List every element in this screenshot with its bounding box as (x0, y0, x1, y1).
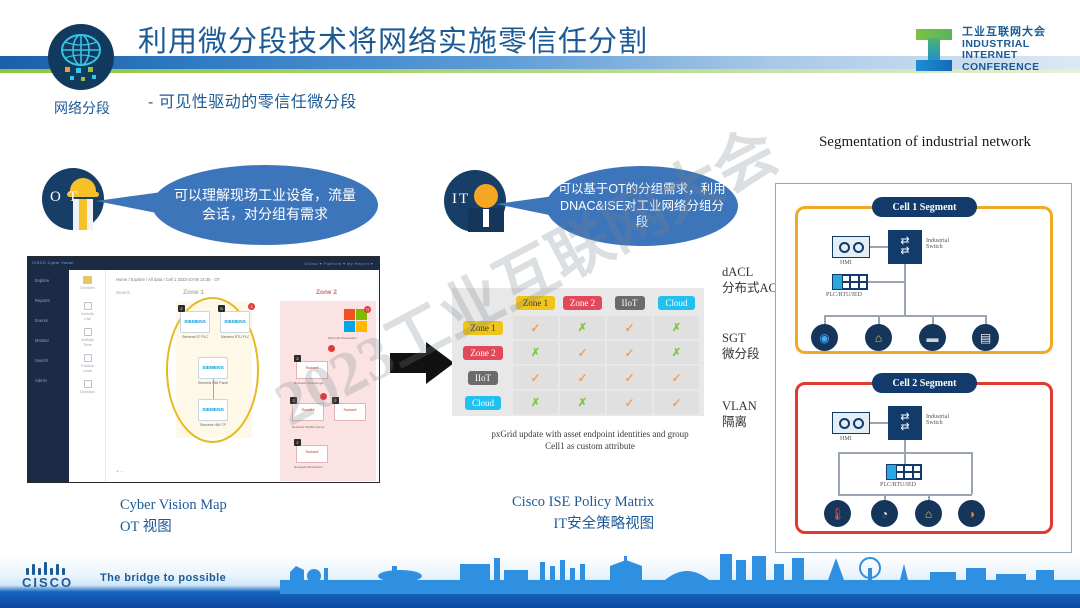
ise-policy-matrix[interactable]: Zone 1 Zone 2 IIoT Cloud Zone 1 ✓ ✗ ✓ ✗ … (452, 288, 704, 416)
cell2-switch-label: Industrial Switch (926, 414, 966, 426)
network-segmentation-badge (48, 24, 114, 90)
matrix-cell-1-0[interactable]: ✗ (513, 341, 560, 366)
label-sgt-en: SGT (722, 330, 760, 346)
cell1-segment-pill: Cell 1 Segment (872, 197, 977, 217)
zone1-node-0-badge: 2 (178, 305, 185, 312)
cv-topbar: CISCO Cyber Vision Global ▾ Platform ▾ M… (28, 257, 379, 270)
cell2-device-thermometer-icon: 🌡 (824, 500, 851, 527)
right-panel-title: Segmentation of industrial network (790, 132, 1060, 152)
industrial-city-skyline (280, 554, 1080, 594)
zone2-label: Zone 2 (316, 289, 337, 296)
zone2-node-1-badge: 2 (290, 397, 297, 404)
matrix-cell-1-2[interactable]: ✓ (607, 341, 654, 366)
zone2-node-0-caption: Rockwell ControlLogix (294, 381, 324, 385)
cyber-vision-map-screenshot[interactable]: CISCO Cyber Vision Global ▾ Platform ▾ M… (27, 256, 380, 483)
cisco-wordmark: CISCO (22, 575, 84, 590)
cell2-device-gauge-icon: ◔ (871, 500, 898, 527)
page-subtitle: - 可见性驱动的零信任微分段 (148, 88, 357, 112)
label-sgt-cn: 微分段 (722, 346, 760, 362)
label-vlan-cn: 隔离 (722, 414, 757, 430)
cell1-hmi-icon (832, 236, 870, 258)
segmentation-diagram: Cell 1 Segment HMI ⇄⇄ Industrial Switch … (775, 183, 1072, 553)
matrix-row: IIoT ✓ ✓ ✓ ✓ (455, 366, 701, 391)
slide-root: 利用微分段技术将网络实施零信任分割 - 可见性驱动的零信任微分段 网络分段 (0, 0, 1080, 608)
zone1-node-3-caption: Siemens HMI-TP (196, 423, 230, 427)
cell1-device-valve-icon: ◉ (811, 324, 838, 351)
matrix-cell-0-1[interactable]: ✗ (560, 316, 607, 341)
cv-rail-item-2[interactable]: Activity Time (78, 328, 97, 347)
cell2-device-robot-arm-icon: ⌂ (915, 500, 942, 527)
cisco-logo: CISCO (22, 562, 84, 592)
cell2-plc-label: PLC/RTU/IED (880, 482, 916, 488)
matrix-col-header-1: Zone 2 (560, 291, 607, 316)
cell2-plc-icon (886, 464, 922, 480)
cv-sidebar-item-5[interactable]: Admin (35, 378, 47, 383)
cell1-switch-icon: ⇄⇄ (888, 230, 922, 264)
zone1-node-1-caption: Siemens RTU PLC (218, 335, 252, 339)
cyber-vision-caption-cn: OT 视图 (120, 517, 227, 539)
matrix-col-header-2: IIoT (607, 291, 654, 316)
cell1-plc-icon (832, 274, 868, 290)
cell2-switch-icon: ⇄⇄ (888, 406, 922, 440)
cv-icon-rail[interactable]: Devices Activity List Activity Time Purd… (69, 270, 106, 483)
matrix-cell-3-1[interactable]: ✗ (560, 391, 607, 416)
ot-callout-bubble: 可以理解现场工业设备，流量会话，对分组有需求 (152, 165, 378, 245)
zone2-node-3-badge: 2 (294, 439, 301, 446)
conference-logo: 工业互联网大会 INDUSTRIAL INTERNET CONFERENCE (914, 22, 1064, 78)
zone2-node-0[interactable]: Rockwell (296, 361, 328, 379)
matrix-col-header-0: Zone 1 (513, 291, 560, 316)
zone1-node-2[interactable]: SIEMENS (198, 357, 228, 379)
matrix-cell-2-1[interactable]: ✓ (560, 366, 607, 391)
matrix-cell-1-1[interactable]: ✓ (560, 341, 607, 366)
ise-caption-en: Cisco ISE Policy Matrix (512, 492, 654, 514)
microsoft-host-icon[interactable] (344, 309, 367, 332)
cell1-device-meter-icon: ▤ (972, 324, 999, 351)
ise-caption-cn: IT安全策略视图 (512, 514, 654, 536)
cell1-device-tank-icon: ▬ (919, 324, 946, 351)
network-segmentation-label: 网络分段 (40, 98, 124, 118)
cell1-switch-label: Industrial Switch (926, 238, 966, 250)
ise-caption: Cisco ISE Policy Matrix IT安全策略视图 (512, 492, 654, 536)
cyber-vision-caption: Cyber Vision Map OT 视图 (120, 495, 227, 539)
gong-mark-icon (914, 27, 954, 73)
zone2-node-3-caption: Rockwell Workstation (294, 465, 323, 469)
matrix-cell-3-2[interactable]: ✓ (607, 391, 654, 416)
matrix-caption: pxGrid update with asset endpoint identi… (490, 428, 690, 452)
cell2-hmi-icon (832, 412, 870, 434)
matrix-col-header-3: Cloud (654, 291, 701, 316)
zone1-node-1[interactable]: SIEMENS (220, 311, 250, 333)
zone2-node-2[interactable]: Rockwell (334, 403, 366, 421)
matrix-row: Cloud ✗ ✗ ✓ ✓ (455, 391, 701, 416)
it-callout-bubble: 可以基于OT的分组需求，利用DNAC&ISE对工业网络分组分段 (546, 166, 738, 246)
slide-footer: CISCO The bridge to possible (0, 554, 1080, 608)
zone2-node-2-badge: 2 (332, 397, 339, 404)
matrix-header-row: Zone 1 Zone 2 IIoT Cloud (455, 291, 701, 316)
zone1-node-0[interactable]: SIEMENS (180, 311, 210, 333)
matrix-cell-0-0[interactable]: ✓ (513, 316, 560, 341)
matrix-cell-3-0[interactable]: ✗ (513, 391, 560, 416)
cisco-tagline: The bridge to possible (100, 572, 226, 584)
globe-network-icon (48, 24, 114, 90)
matrix-cell-0-3[interactable]: ✗ (654, 316, 701, 341)
zone2-node-0-badge: 2 (294, 355, 301, 362)
label-sgt: SGT 微分段 (722, 330, 760, 363)
matrix-row-header-2: IIoT (455, 366, 513, 391)
matrix-cell-3-3[interactable]: ✓ (654, 391, 701, 416)
ot-worker-avatar: O T (42, 168, 104, 230)
cv-sidebar-item-2[interactable]: Events (35, 318, 48, 323)
cell2-hmi-label: HMI (840, 436, 852, 442)
matrix-row: Zone 1 ✓ ✗ ✓ ✗ (455, 316, 701, 341)
matrix-row-header-1: Zone 2 (455, 341, 513, 366)
zone2-host-caption: Microsoft Workstation (328, 336, 357, 340)
matrix-row-header-3: Cloud (455, 391, 513, 416)
zone1-label: Zone 1 (183, 289, 204, 296)
matrix-cell-2-2[interactable]: ✓ (607, 366, 654, 391)
cell1-plc-label: PLC/RTU/IED (826, 292, 862, 298)
cell2-device-furnace-icon: ◑ (958, 500, 985, 527)
matrix-cell-0-2[interactable]: ✓ (607, 316, 654, 341)
cv-breadcrumb: Home / Explore / All data / Cell 1 2023-… (116, 277, 220, 282)
conference-name-line3: CONFERENCE (962, 62, 1046, 74)
flow-arrow-icon (390, 342, 454, 384)
matrix-corner-cell (455, 291, 513, 316)
zone2-alert-b (320, 393, 327, 400)
cv-sidebar-item-1[interactable]: Reports (35, 298, 50, 303)
cv-zoom-controls[interactable]: + − (116, 469, 123, 477)
zone1-node-1-alert: 3 (248, 303, 255, 310)
cv-rail-item-0[interactable]: Devices (78, 276, 97, 290)
matrix-cell-2-0[interactable]: ✓ (513, 366, 560, 391)
zone2-alert-a (328, 345, 335, 352)
cv-rail-item-1[interactable]: Activity List (78, 302, 97, 321)
zone2-node-1[interactable]: Rockwell (292, 403, 324, 421)
page-title: 利用微分段技术将网络实施零信任分割 (138, 18, 778, 60)
zone2-node-3[interactable]: Rockwell (296, 445, 328, 463)
zone2-node-2-caption: Rockwell SCADA Server (292, 425, 325, 429)
zone2-host-alert: 72 (364, 306, 371, 313)
cell1-device-robot-arm-icon: ⌂ (865, 324, 892, 351)
label-vlan: VLAN 隔离 (722, 398, 757, 431)
it-avatar-tag: IT (452, 191, 470, 208)
cv-sidebar[interactable]: Explore Reports Events Monitor Search Ad… (28, 270, 69, 483)
cisco-bars-icon (22, 562, 84, 575)
cv-top-menu[interactable]: Global ▾ Platform ▾ My Report ▾ (304, 261, 373, 266)
zone1-node-3[interactable]: SIEMENS (198, 399, 228, 421)
cv-sidebar-item-3[interactable]: Monitor (35, 338, 49, 343)
cv-search-input[interactable]: Search (116, 290, 130, 295)
conference-name-cn: 工业互联网大会 (962, 26, 1046, 38)
matrix-row-header-0: Zone 1 (455, 316, 513, 341)
cv-rail-item-3[interactable]: Purdue Level (78, 354, 97, 373)
zone1-node-1-badge: 5 (218, 305, 225, 312)
cv-sidebar-item-4[interactable]: Search (35, 358, 48, 363)
cv-sidebar-item-0[interactable]: Explore (35, 278, 49, 283)
cv-rail-item-4[interactable]: Duration (78, 380, 97, 394)
cv-logo: CISCO Cyber Vision (32, 260, 74, 265)
label-vlan-en: VLAN (722, 398, 757, 414)
cyber-vision-caption-en: Cyber Vision Map (120, 495, 227, 517)
matrix-row: Zone 2 ✗ ✓ ✓ ✗ (455, 341, 701, 366)
zone1-node-0-caption: Siemens S7 PLC (178, 335, 212, 339)
matrix-cell-1-3[interactable]: ✗ (654, 341, 701, 366)
ot-avatar-tag: O T (50, 189, 79, 206)
matrix-cell-2-3[interactable]: ✓ (654, 366, 701, 391)
cell2-segment-pill: Cell 2 Segment (872, 373, 977, 393)
cell1-hmi-label: HMI (840, 260, 852, 266)
